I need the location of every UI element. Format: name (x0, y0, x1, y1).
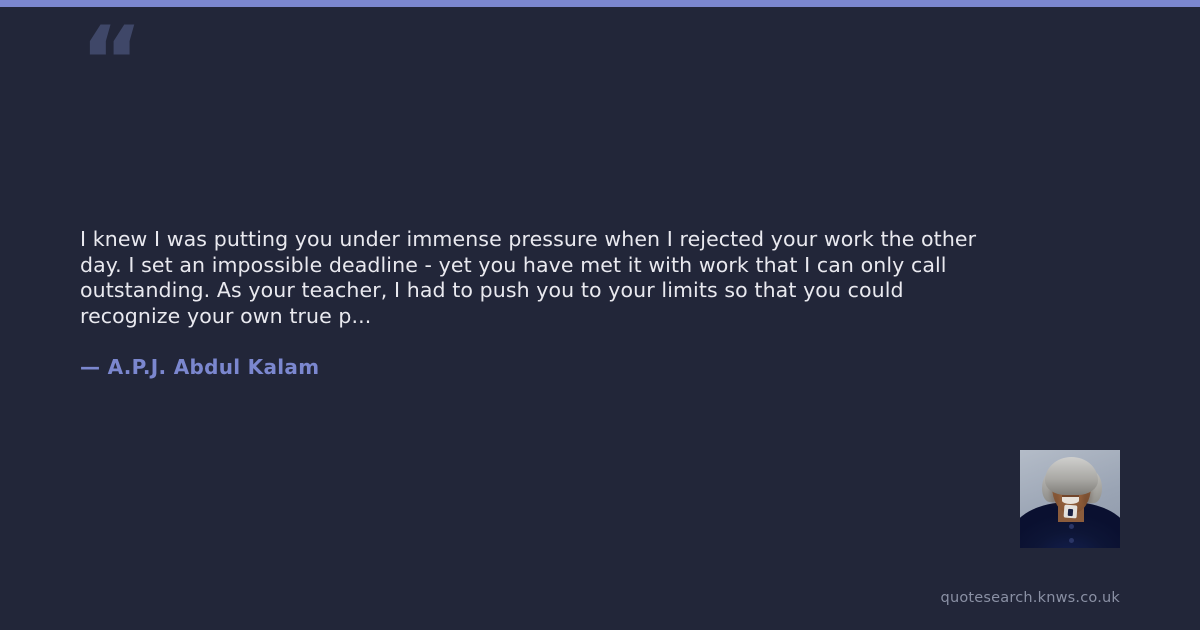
quote-attribution: — A.P.J. Abdul Kalam (80, 355, 319, 379)
top-accent-bar (0, 0, 1200, 7)
quote-text: I knew I was putting you under immense p… (80, 227, 990, 329)
author-portrait (1020, 450, 1120, 548)
site-url-footer: quotesearch.knws.co.uk (941, 590, 1120, 606)
portrait-jacket-button-upper (1069, 524, 1074, 529)
portrait-collar (1064, 505, 1078, 519)
opening-quote-icon: “ (80, 14, 141, 110)
portrait-smile (1062, 497, 1079, 504)
portrait-jacket-button-lower (1069, 538, 1074, 543)
